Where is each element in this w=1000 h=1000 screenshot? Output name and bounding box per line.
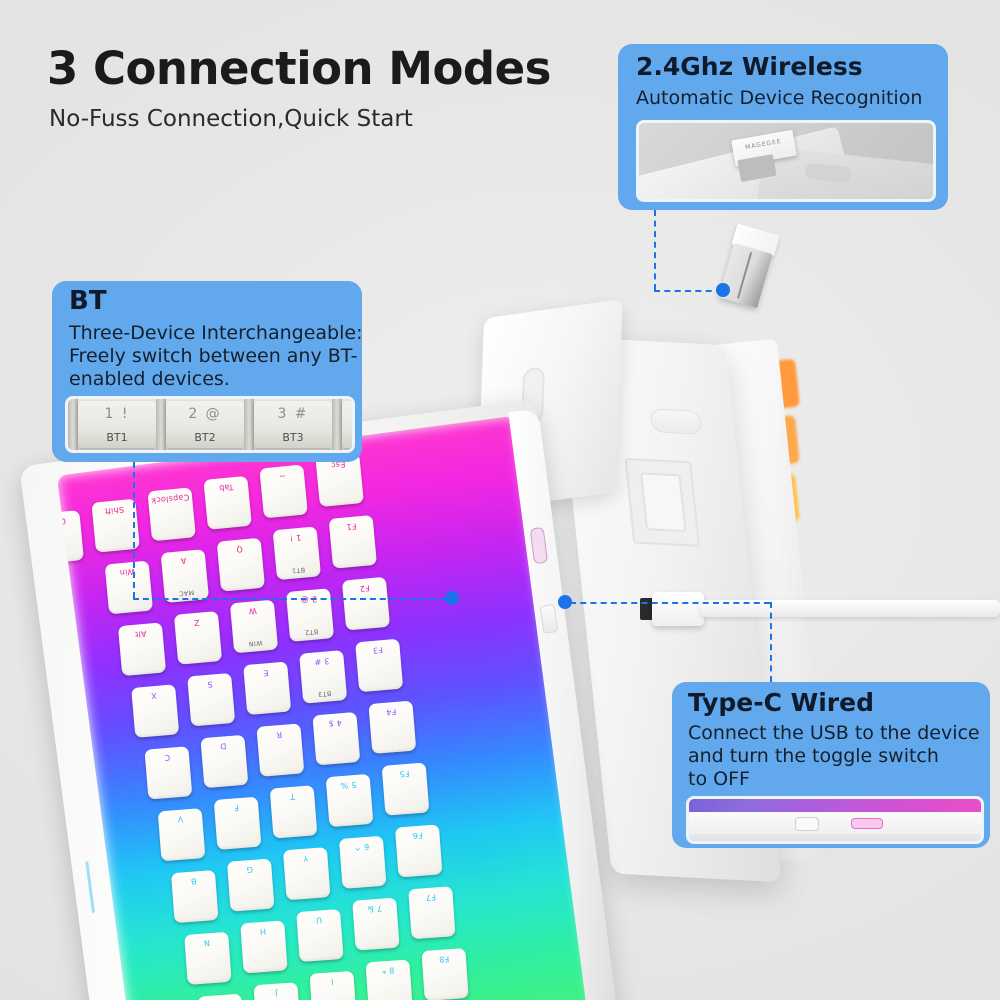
connector-bt-vertical bbox=[133, 462, 135, 598]
keycap[interactable]: N bbox=[184, 932, 231, 985]
keycap-gap bbox=[332, 399, 342, 450]
keycap-primary-label: F7 bbox=[409, 891, 454, 903]
infographic-canvas: 3 Connection Modes No-Fuss Connection,Qu… bbox=[0, 0, 1000, 1000]
keycap[interactable]: Tab bbox=[203, 476, 252, 530]
photo-bottom-shadow bbox=[689, 834, 981, 841]
keycap-primary-label: Tab bbox=[204, 481, 249, 494]
keycap[interactable]: WWIN bbox=[230, 600, 278, 654]
page-title: 3 Connection Modes bbox=[47, 42, 551, 95]
keycap[interactable]: C bbox=[144, 746, 192, 799]
keycap-primary-label: 8 * bbox=[366, 964, 411, 976]
keycap[interactable]: I bbox=[309, 971, 356, 1000]
connector-bt-horizontal bbox=[133, 598, 445, 600]
keycap[interactable]: AMAC bbox=[161, 549, 209, 603]
keycap[interactable]: F1 bbox=[329, 515, 377, 569]
keycap[interactable]: 2 @BT2 bbox=[286, 588, 334, 642]
keycap[interactable]: G bbox=[227, 859, 275, 912]
keycap-primary-label: ~ bbox=[260, 469, 305, 482]
keycap-primary-label: E bbox=[244, 666, 289, 679]
keycap[interactable]: U bbox=[296, 909, 343, 962]
keycap[interactable]: B bbox=[171, 870, 219, 923]
callout-wireless-photo: MAGEGEE bbox=[636, 120, 936, 202]
keycap-primary-label: Z bbox=[174, 616, 219, 629]
keycap-primary-label: 1 ! bbox=[273, 531, 318, 544]
keycap-primary-label: Win bbox=[105, 566, 150, 579]
keycap[interactable]: T bbox=[270, 785, 318, 838]
keycap-primary-label: F5 bbox=[382, 767, 427, 779]
keycap-grid: Esc~TabCapslockShiftCtrlF11 !BT1QAMACWin… bbox=[57, 416, 598, 1000]
keycap[interactable]: M bbox=[197, 994, 244, 1000]
keycap[interactable]: F bbox=[214, 797, 262, 850]
callout-wireless-title: 2.4Ghz Wireless bbox=[636, 54, 863, 80]
connector-typec-vertical bbox=[770, 602, 772, 682]
keycap-primary-label: Y bbox=[283, 852, 328, 864]
bt-keycap: 2 @ BT2 bbox=[166, 401, 244, 448]
photo-keyboard-front-edge bbox=[689, 812, 981, 834]
connector-typec-horizontal bbox=[570, 602, 770, 604]
keycap[interactable]: Z bbox=[174, 611, 222, 665]
callout-bt-title: BT bbox=[69, 288, 107, 315]
keycap[interactable]: 4 $ bbox=[312, 712, 360, 765]
cable-plug-housing bbox=[652, 592, 704, 626]
callout-bt-photo: 1 ! BT1 2 @ BT2 3 # BT3 bbox=[65, 396, 355, 453]
bt-keycap-bottom: BT2 bbox=[166, 431, 244, 444]
callout-bt-line2: Freely switch between any BT- bbox=[69, 346, 358, 367]
callout-typec[interactable]: Type-C Wired Connect the USB to the devi… bbox=[672, 682, 990, 848]
keycap[interactable]: ~ bbox=[259, 464, 308, 518]
keycap[interactable]: Alt bbox=[118, 622, 166, 676]
keycap[interactable]: 7 & bbox=[352, 898, 399, 951]
keycap[interactable]: 6 ^ bbox=[339, 836, 387, 889]
keycap-primary-label: F2 bbox=[342, 582, 387, 595]
keycap[interactable]: Q bbox=[217, 538, 265, 592]
keycap-primary-label: I bbox=[310, 976, 355, 988]
keycap-primary-label: 4 $ bbox=[313, 717, 358, 730]
callout-typec-line2: and turn the toggle switch bbox=[688, 746, 939, 767]
keycap[interactable]: F4 bbox=[368, 701, 416, 754]
dongle-storage-slot bbox=[649, 408, 702, 435]
keycap-secondary-label: BT3 bbox=[302, 688, 347, 700]
keycap[interactable]: E bbox=[243, 661, 291, 715]
keycap-primary-label: F6 bbox=[395, 829, 440, 841]
usb-c-cable bbox=[640, 586, 1000, 632]
keycap[interactable]: Win bbox=[105, 561, 153, 615]
keycap[interactable]: F7 bbox=[408, 886, 455, 939]
keycap[interactable]: F5 bbox=[382, 762, 430, 815]
keycap-primary-label: 6 ^ bbox=[339, 841, 384, 853]
bt-keycap-top: 1 ! bbox=[78, 406, 156, 422]
keycap[interactable]: Y bbox=[283, 847, 331, 900]
keycap-primary-label: 3 # bbox=[300, 655, 345, 668]
bt-keycap-bottom: BT3 bbox=[254, 431, 332, 444]
keycap-primary-label: Alt bbox=[118, 627, 163, 640]
keycap-primary-label: Capslock bbox=[148, 492, 193, 505]
keycap-primary-label: Q bbox=[217, 543, 262, 556]
connector-dot-bt bbox=[445, 591, 459, 605]
keycap-primary-label: 7 & bbox=[353, 903, 398, 915]
keycap-secondary-label: BT1 bbox=[276, 564, 321, 576]
keycap[interactable]: X bbox=[131, 684, 179, 738]
bt-keycap-bottom: BT1 bbox=[78, 431, 156, 444]
callout-typec-photo bbox=[686, 796, 984, 844]
dongle-brand-label: MAGEGEE bbox=[732, 136, 794, 154]
keycap-primary-label: Shift bbox=[92, 504, 137, 517]
keycap-primary-label: S bbox=[188, 678, 233, 691]
keycap-primary-label: F3 bbox=[356, 644, 401, 657]
keycap[interactable]: 8 * bbox=[365, 959, 412, 1000]
keycap[interactable]: S bbox=[187, 673, 235, 727]
keycap-primary-label: V bbox=[158, 813, 203, 825]
callout-wireless[interactable]: 2.4Ghz Wireless Automatic Device Recogni… bbox=[618, 44, 948, 210]
keycap[interactable]: R bbox=[256, 723, 304, 776]
keyboard-chassis: Esc~TabCapslockShiftCtrlF11 !BT1QAMACWin… bbox=[19, 399, 621, 1000]
keycap[interactable]: V bbox=[158, 808, 206, 861]
keycap-primary-label: U bbox=[297, 914, 342, 926]
keycap[interactable]: 1 !BT1 bbox=[273, 526, 321, 580]
keycap-primary-label: R bbox=[257, 728, 302, 741]
keycap-gap bbox=[68, 399, 78, 450]
connector-dot-wireless bbox=[716, 283, 730, 297]
keycap[interactable]: H bbox=[240, 920, 287, 973]
keycap-primary-label: F8 bbox=[422, 953, 467, 965]
photo-rgb-strip bbox=[689, 799, 981, 813]
keycap-gap bbox=[156, 399, 166, 450]
keycap[interactable]: 3 #BT3 bbox=[299, 650, 347, 704]
keycap-primary-label: C bbox=[145, 751, 190, 764]
keycap-primary-label: F4 bbox=[369, 706, 414, 719]
keycap[interactable]: F3 bbox=[355, 639, 403, 693]
keycap-primary-label: 5 % bbox=[326, 779, 371, 791]
connector-wireless-vertical bbox=[654, 210, 656, 290]
spacebar-indicator bbox=[85, 861, 95, 913]
photo-toggle-switch bbox=[795, 817, 819, 831]
dongle-compartment-inner bbox=[640, 472, 687, 532]
keycap-primary-label: Ctrl bbox=[57, 515, 81, 528]
connector-wireless-horizontal bbox=[654, 290, 722, 292]
keycap-primary-label: A bbox=[161, 554, 206, 567]
page-subtitle: No-Fuss Connection,Quick Start bbox=[49, 106, 413, 132]
callout-typec-line3: to OFF bbox=[688, 769, 750, 790]
keycap-primary-label: F1 bbox=[329, 520, 374, 533]
keycap[interactable]: 5 % bbox=[326, 774, 374, 827]
callout-bt-line1: Three-Device Interchangeable: bbox=[69, 323, 362, 344]
keycap[interactable]: Capslock bbox=[147, 487, 196, 541]
bt-keycap-partial bbox=[342, 401, 355, 448]
callout-wireless-line1: Automatic Device Recognition bbox=[636, 88, 922, 109]
keycap[interactable]: F6 bbox=[395, 824, 443, 877]
keycap-primary-label: G bbox=[227, 864, 272, 876]
keycap-secondary-label: WIN bbox=[233, 637, 278, 649]
keycap[interactable]: F2 bbox=[342, 577, 390, 631]
keyboard-front: Esc~TabCapslockShiftCtrlF11 !BT1QAMACWin… bbox=[60, 430, 620, 1000]
keycap[interactable]: D bbox=[200, 735, 248, 788]
keycap-primary-label: J bbox=[254, 987, 299, 999]
keycap[interactable]: J bbox=[253, 982, 300, 1000]
keycap-gap bbox=[244, 399, 254, 450]
bt-keycap: 1 ! BT1 bbox=[78, 401, 156, 448]
keycap-primary-label: X bbox=[132, 689, 177, 702]
bt-keycap-top: 2 @ bbox=[166, 406, 244, 422]
callout-bt-line3: enabled devices. bbox=[69, 369, 230, 390]
keycap[interactable]: F8 bbox=[421, 948, 468, 1000]
keycap-primary-label: B bbox=[171, 875, 216, 887]
keycap-primary-label: N bbox=[185, 937, 230, 949]
callout-typec-title: Type-C Wired bbox=[688, 690, 874, 716]
keycap[interactable]: Ctrl bbox=[57, 510, 84, 564]
keycap-primary-label: T bbox=[270, 790, 315, 802]
keycap-primary-label: H bbox=[241, 925, 286, 937]
bt-keycap: 3 # BT3 bbox=[254, 401, 332, 448]
bt-keycap-top: 3 # bbox=[254, 406, 332, 422]
callout-typec-line1: Connect the USB to the device bbox=[688, 723, 980, 744]
photo-usb-c-port bbox=[851, 818, 883, 829]
callout-bluetooth[interactable]: BT Three-Device Interchangeable: Freely … bbox=[52, 281, 362, 462]
keycap-secondary-label: BT2 bbox=[289, 626, 334, 638]
keycap-primary-label: F bbox=[214, 802, 259, 814]
keyboard-keyplate: Esc~TabCapslockShiftCtrlF11 !BT1QAMACWin… bbox=[57, 416, 598, 1000]
keycap-primary-label: D bbox=[201, 740, 246, 753]
keycap-primary-label: W bbox=[230, 605, 275, 618]
